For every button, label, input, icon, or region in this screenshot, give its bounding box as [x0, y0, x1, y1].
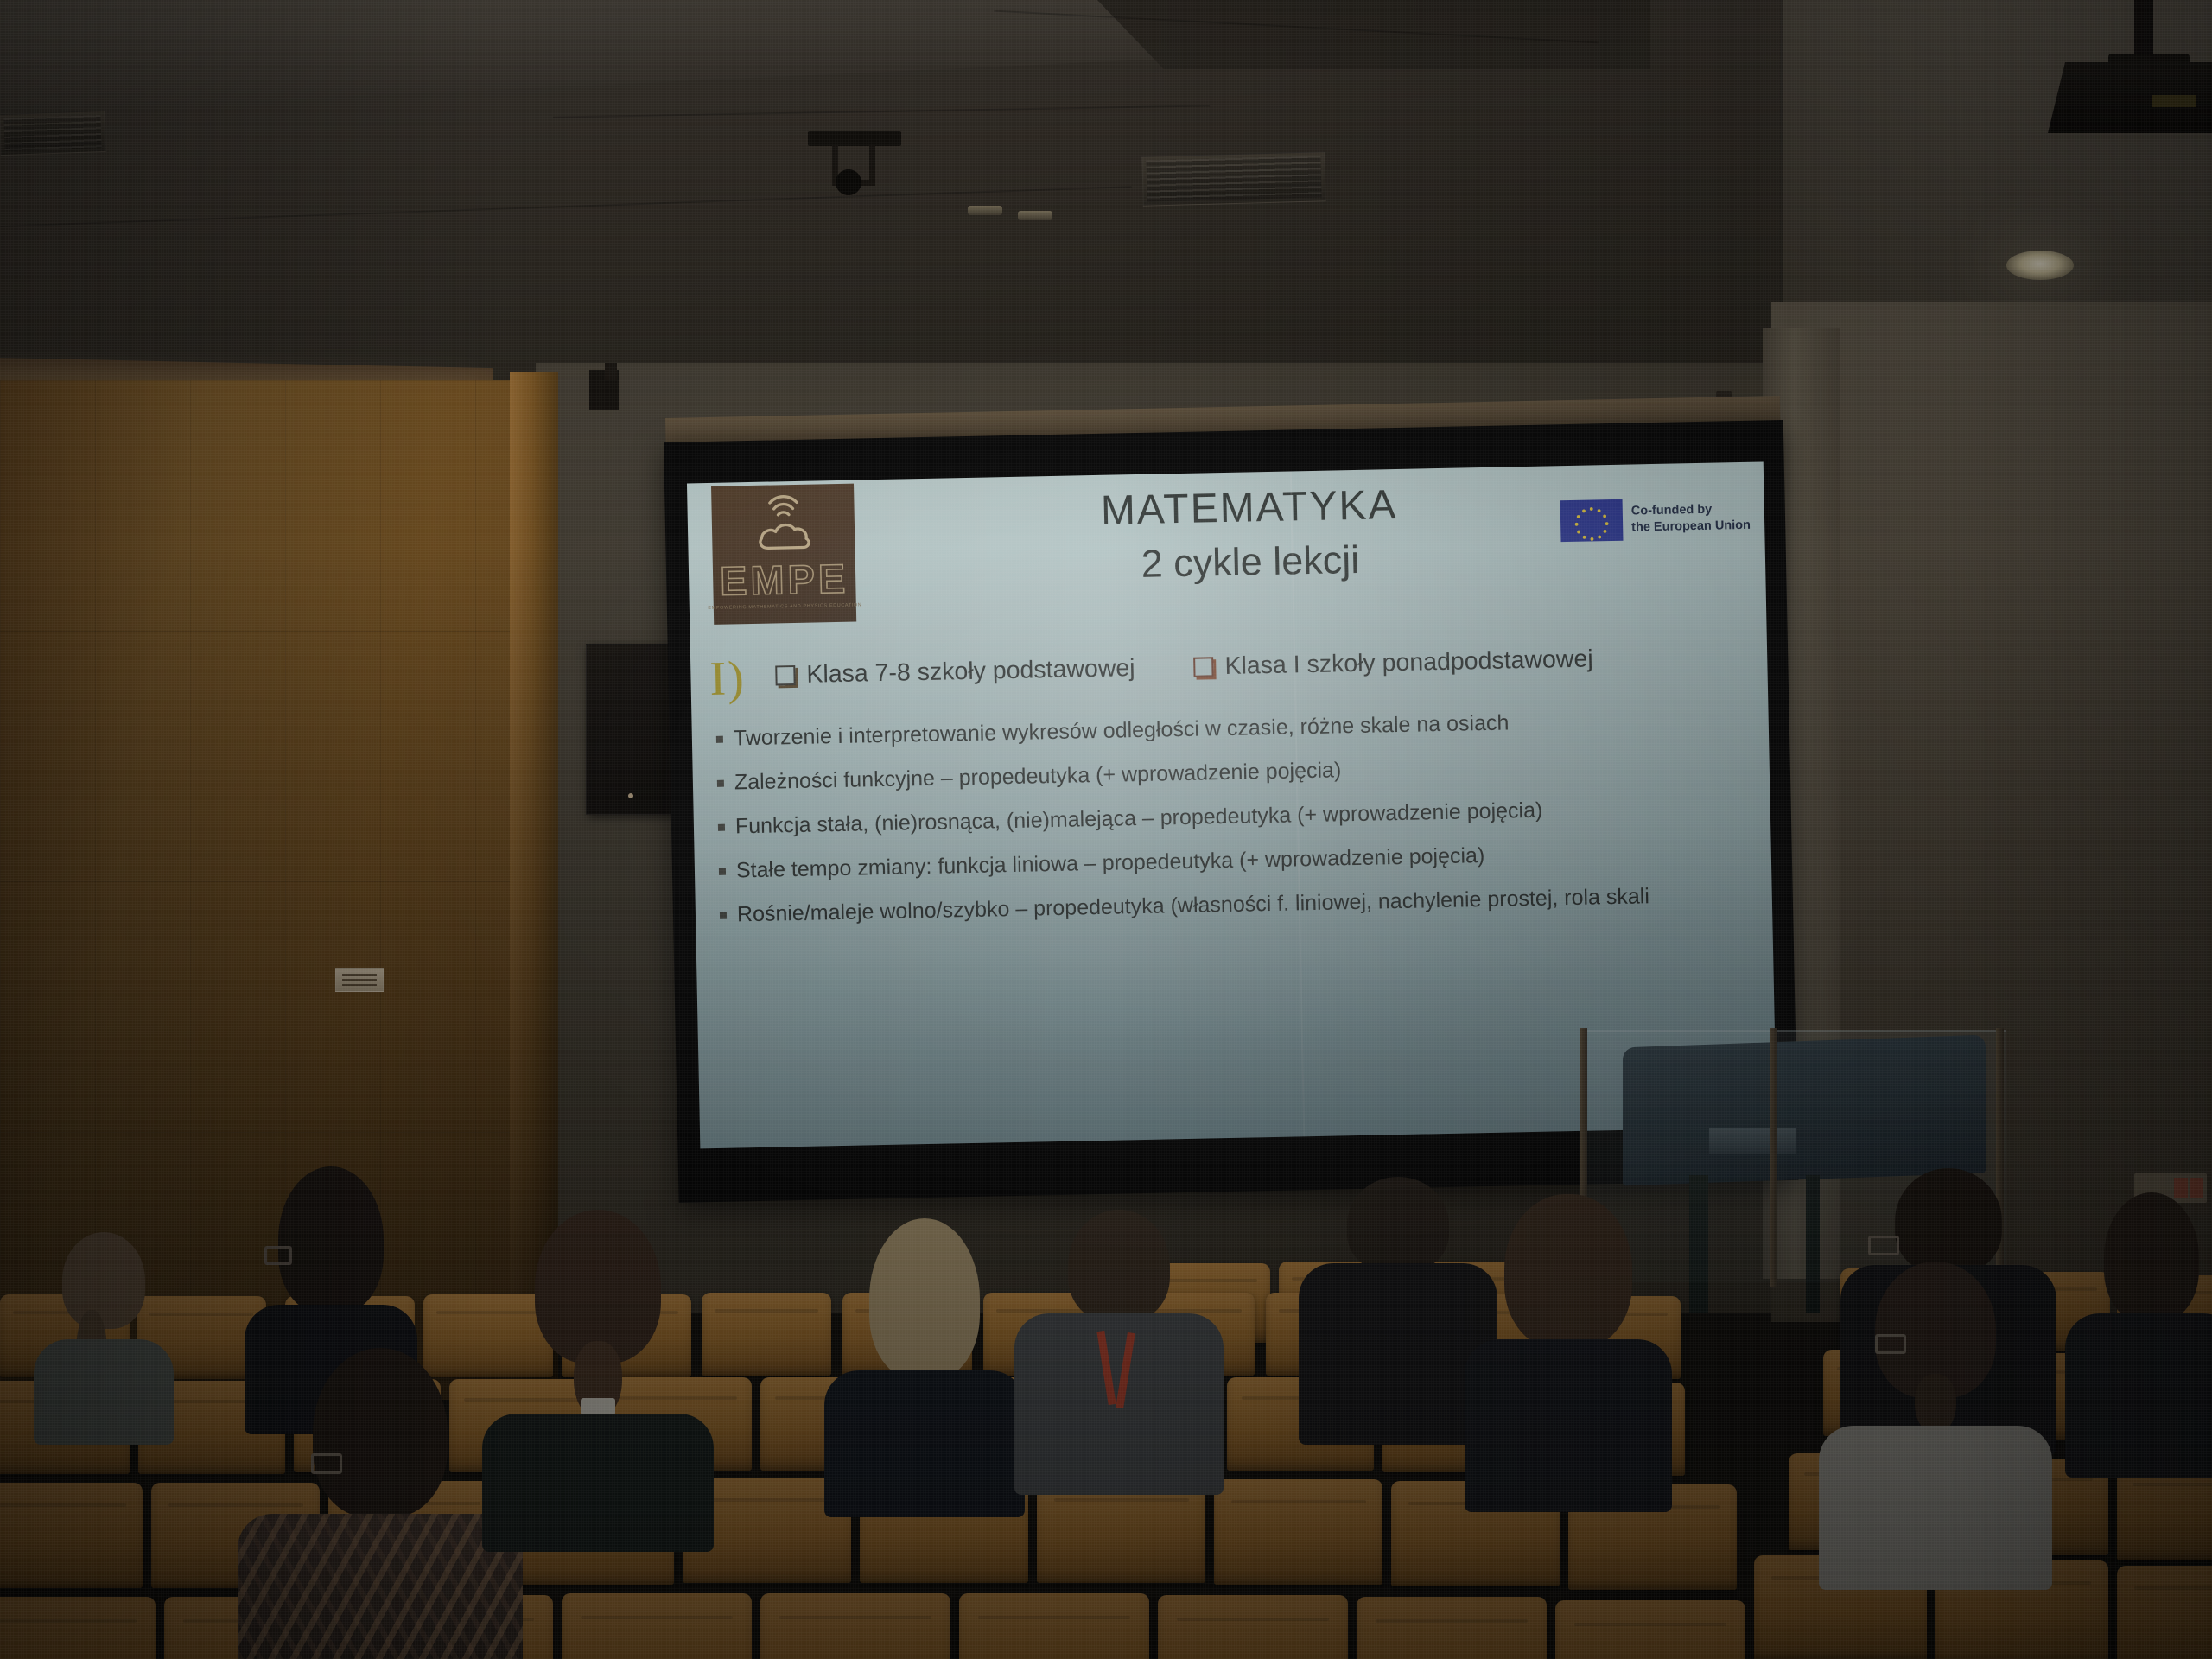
eu-badge-line2: the European Union [1631, 518, 1751, 536]
eu-flag-icon [1560, 499, 1624, 542]
class-item-primary: Klasa 7-8 szkoły podstawowej [775, 654, 1135, 690]
bullet-text: Stałe tempo zmiany: funkcja liniowa – pr… [736, 843, 1485, 883]
glasses-icon [311, 1453, 342, 1474]
checkbox-icon [775, 665, 795, 685]
empe-wordmark: EMPE [720, 558, 849, 601]
bullet-square-icon [716, 736, 723, 743]
hair [869, 1218, 980, 1379]
bullet-text: Tworzenie i interpretowanie wykresów odl… [734, 710, 1510, 751]
bullet-text: Funkcja stała, (nie)rosnąca, (nie)maleją… [735, 798, 1543, 840]
torso [238, 1514, 523, 1659]
recessed-downlight [2006, 251, 2074, 280]
wall-mount-bracket-top [605, 363, 617, 380]
hair [1068, 1210, 1170, 1322]
seat [0, 1597, 156, 1659]
seat [1214, 1479, 1382, 1585]
list-item: Zależności funkcyjne – propedeutyka (+ w… [717, 749, 1768, 795]
class-label-primary: Klasa 7-8 szkoły podstawowej [806, 654, 1135, 690]
bullet-square-icon [719, 868, 726, 875]
audience-member [35, 1225, 173, 1424]
hair [313, 1348, 448, 1517]
seat [1357, 1597, 1547, 1659]
wall-plaque [335, 968, 384, 992]
bullet-text: Zależności funkcyjne – propedeutyka (+ w… [734, 758, 1342, 795]
audience-member [1823, 1262, 2048, 1555]
audience-member [1469, 1194, 1668, 1453]
list-item: Stałe tempo zmiany: funkcja liniowa – pr… [719, 837, 1770, 883]
torso [824, 1370, 1025, 1517]
hair [1504, 1194, 1632, 1350]
hair [1895, 1168, 2002, 1274]
ceiling-downlight [1018, 211, 1052, 220]
hair [62, 1232, 145, 1329]
ceiling-air-vent [1141, 151, 1325, 207]
security-camera-mount [808, 131, 901, 146]
ceiling-notch [1097, 0, 1650, 69]
eu-badge-text: Co-funded by the European Union [1631, 501, 1751, 536]
hair [1347, 1177, 1449, 1272]
lanyard-tag [581, 1398, 615, 1415]
class-level-row: Klasa 7-8 szkoły podstawowej Klasa I szk… [775, 642, 1743, 690]
audience-member [2074, 1192, 2212, 1434]
audience-member [829, 1218, 1020, 1469]
security-camera-icon [836, 169, 861, 195]
slide-subtitle: 2 cykle lekcji [973, 534, 1527, 590]
torso [482, 1414, 714, 1552]
hair [2104, 1192, 2199, 1322]
speaker-led-icon [628, 793, 633, 798]
torso [1465, 1339, 1672, 1512]
bullet-text: Rośnie/maleje wolno/szybko – propedeutyk… [737, 884, 1649, 927]
glass-post [1770, 1028, 1777, 1287]
glasses-icon [264, 1246, 292, 1265]
torso [2065, 1313, 2212, 1478]
bullet-list: Tworzenie i interpretowanie wykresów odl… [716, 705, 1771, 946]
audience-member [1020, 1210, 1218, 1469]
seat [562, 1593, 752, 1659]
seat [0, 1483, 143, 1588]
ceiling-downlight [968, 206, 1002, 215]
eu-funding-badge: Co-funded by the European Union [1560, 497, 1751, 542]
bullet-square-icon [718, 824, 725, 831]
torso [1819, 1426, 2052, 1590]
slide-title: MATEMATYKA [972, 479, 1526, 537]
glasses-icon [1875, 1334, 1906, 1354]
ceiling-air-vent [0, 111, 106, 156]
seat [2117, 1566, 2212, 1659]
seat [959, 1593, 1149, 1659]
glasses-icon [1868, 1236, 1899, 1255]
seat [1158, 1595, 1348, 1659]
audience-member [486, 1210, 710, 1495]
seat [1555, 1600, 1745, 1659]
wall-speaker [586, 644, 677, 815]
class-label-secondary: Klasa I szkoły ponadpodstawowej [1224, 645, 1593, 681]
bullet-square-icon [717, 780, 724, 787]
projector-label [2152, 95, 2196, 107]
seat [2117, 1464, 2212, 1560]
list-item: Rośnie/maleje wolno/szybko – propedeutyk… [720, 881, 1770, 927]
seat [702, 1293, 831, 1376]
class-item-secondary: Klasa I szkoły ponadpodstawowej [1193, 645, 1593, 681]
section-marker: I) [709, 651, 747, 707]
bullet-square-icon [720, 912, 727, 919]
checkbox-icon [1193, 657, 1213, 677]
audience-member [251, 1348, 510, 1659]
empe-logo: EMPE EMPOWERING MATHEMATICS AND PHYSICS … [711, 484, 856, 625]
list-item: Funkcja stała, (nie)rosnąca, (nie)maleją… [718, 793, 1769, 839]
seat [760, 1593, 950, 1659]
wifi-cloud-icon [749, 493, 817, 558]
lecture-hall-scene: EMPE EMPOWERING MATHEMATICS AND PHYSICS … [0, 0, 2212, 1659]
empe-tagline: EMPOWERING MATHEMATICS AND PHYSICS EDUCA… [708, 602, 861, 611]
list-item: Tworzenie i interpretowanie wykresów odl… [716, 705, 1767, 751]
torso [34, 1339, 174, 1445]
hair [278, 1166, 384, 1313]
